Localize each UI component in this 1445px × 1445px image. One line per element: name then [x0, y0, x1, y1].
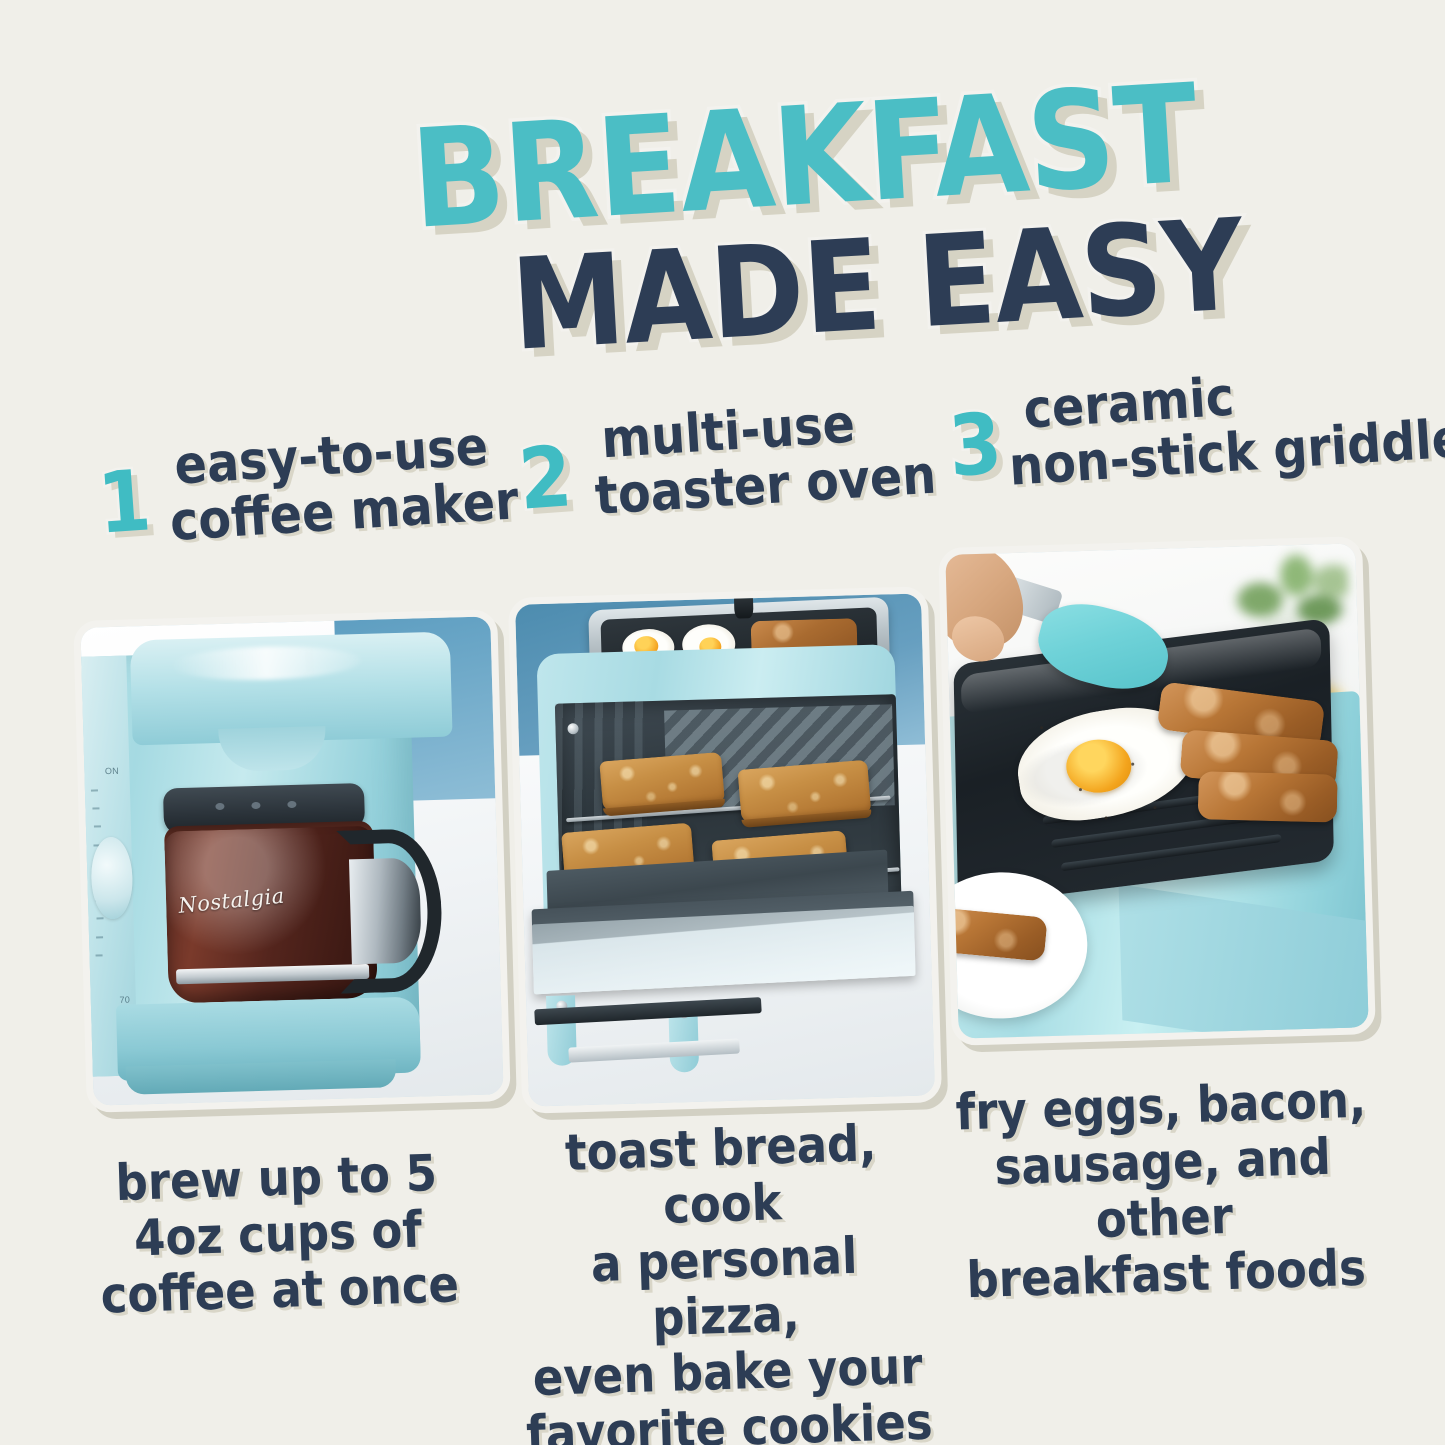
- toast-slice: [599, 752, 724, 812]
- griddle-lid-knob[interactable]: [734, 586, 753, 618]
- feature-number-3: 3: [946, 401, 1004, 488]
- feature-heading-text-1: easy-to-use coffee maker: [173, 417, 520, 549]
- sausage-link: [1198, 772, 1339, 824]
- title-line-made-easy: MADE EASY: [508, 202, 1245, 369]
- feature-photo-3: [938, 536, 1376, 1046]
- coffee-maker-photo: ON 100 70 Nostalgia: [80, 616, 503, 1105]
- toast-slice: [738, 760, 872, 823]
- caption-line-3b: sausage, and other: [949, 1127, 1377, 1252]
- feature-photo-1: ON 100 70 Nostalgia: [73, 609, 511, 1113]
- feature-heading-text-3: ceramic non-stick griddle: [1022, 355, 1445, 494]
- caption-line-2b: a personal pizza,: [513, 1225, 936, 1350]
- feature-photo-2: [508, 586, 942, 1114]
- griddle-photo: [945, 543, 1368, 1038]
- feature-caption-3: fry eggs, bacon, sausage, and other brea…: [948, 1071, 1380, 1308]
- infographic-root: BREAKFAST MADE EASY 1 easy-to-use coffee…: [0, 0, 1445, 1445]
- caption-line-2a: toast bread, cook: [510, 1113, 933, 1238]
- dial-label-lower: 70: [119, 995, 130, 1005]
- title-block: BREAKFAST MADE EASY: [0, 95, 1445, 355]
- toaster-oven-photo: [515, 593, 935, 1106]
- dial-label-upper: ON: [105, 765, 119, 775]
- carafe-handle-chrome: [349, 857, 422, 964]
- feature-number-2: 2: [516, 434, 574, 521]
- caption-line-1c: coffee at once: [63, 1255, 497, 1325]
- caption-line-3c: breakfast foods: [953, 1239, 1380, 1308]
- feature-number-1: 1: [95, 458, 153, 545]
- feature-caption-2: toast bread, cook a personal pizza, even…: [510, 1113, 940, 1445]
- feature-caption-1: brew up to 5 4oz cups of coffee at once: [59, 1143, 496, 1324]
- feature-heading-text-2: multi-use toaster oven: [600, 392, 938, 524]
